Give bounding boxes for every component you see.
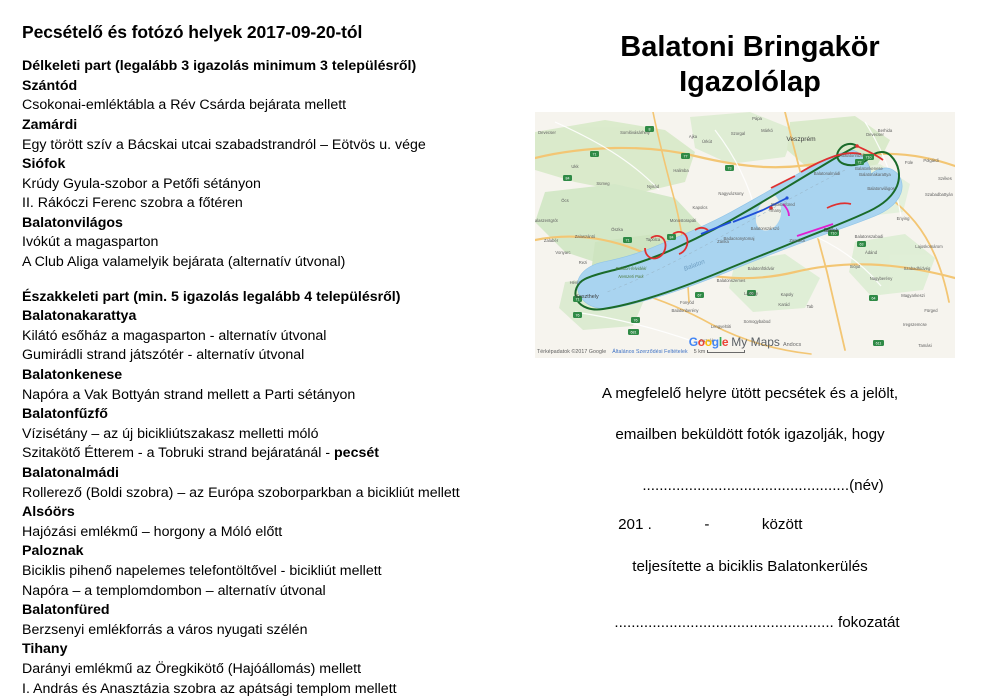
map-label-keszthely: Keszthely [575,294,599,300]
map-label-balatonalmadi: Balatonalmádi [814,171,841,176]
map-label-sumeg: Sümeg [596,181,610,186]
poi-item-with-stamp: Szitakötő Étterem - a Tobruki strand bej… [22,444,492,464]
poi-item: Krúdy Gyula-szobor a Petőfi sétányon [22,175,492,195]
map-label-badacsony: Badacsonytomaj [724,236,755,241]
svg-text:84: 84 [670,236,674,240]
town-name-balatonalmadi: Balatonalmádi [22,464,492,484]
map-label-balatonvilagos: Balatonvilágos [867,186,894,191]
map-label-iregszemcse: Iregszemcse [903,322,927,327]
map-label-devecser: Devecser [866,132,884,137]
map-attribution-bar: Térképadatok ©2017 Google Általános Szer… [535,345,955,358]
grade-dots: ........................................… [614,614,833,631]
map-label-zalaszentgrot: Zalaszentgrót [535,218,559,223]
map-label-kapolcs: Kapolcs [693,205,708,210]
map-label-devecser2: Devecser [538,130,556,135]
map-label-ajka: Ajka [689,134,698,139]
map-label-papa: Pápa [752,116,762,121]
map-label-somogybabod: Somogybabod [743,319,771,324]
poi-item: Darányi emlékmű az Öregkikötő (Hajóállom… [22,660,492,680]
map-label-park2: Nemzeti Park [618,274,644,279]
poi-item: I. András és Anasztázia szobra az apátsá… [22,680,492,699]
certificate-column: Balatoni Bringakör Igazolólap [500,20,1000,101]
svg-text:72: 72 [858,161,862,165]
map-label-balatonakarattya: Balatonakarattya [859,172,891,177]
name-fill-in-line[interactable]: ........................................… [505,477,995,494]
poi-item: Napóra a Vak Bottyán strand mellett a Pa… [22,386,492,406]
town-name-tihany: Tihany [22,640,492,660]
poi-item: A Club Aliga valamelyik bejárata (altern… [22,253,492,273]
poi-item: Csokonai-emléktábla a Rév Csárda bejárat… [22,96,492,116]
map-label-balatonszarszo: Balatonszárszó [751,226,780,231]
poi-item: Hajózási emlékmű – horgony a Móló előtt [22,523,492,543]
svg-text:84: 84 [566,177,570,181]
map-label-monostorapati: Monostorapáti [670,218,697,223]
map-label-zalaszanto: Zalaszántó [575,234,596,239]
certificate-title: Balatoni Bringakör Igazolólap [500,30,1000,101]
town-name-balatonfured: Balatonfüred [22,601,492,621]
poi-item: Egy törött szív a Bácskai utcai szabadst… [22,136,492,156]
map-label-szabadbattyan: Szabadbattyán [925,192,954,197]
map-label-tab: Tab [807,304,814,309]
certificate-text-line2: emailben beküldött fotók igazolják, hogy [505,427,995,444]
svg-text:64: 64 [872,297,876,301]
map-label-balatonkenese: Balatonkenese [855,166,883,171]
between-label: között [762,516,882,533]
map-label-marko: Márkó [761,128,773,133]
page-title: Pecsételő és fotózó helyek 2017-09-20-tó… [22,22,492,42]
achievement-text: teljesítette a biciklis Balatonkerülés [505,559,995,576]
town-name-balatonfuzfo: Balatonfűzfő [22,405,492,425]
map-label-enying: Enying [897,216,910,221]
map-label-karad: Karád [778,302,790,307]
certificate-text-line1: A megfelelő helyre ütött pecsétek és a j… [505,386,995,403]
map-label-urkut: Úrkút [702,139,713,144]
balaton-route-map[interactable]: 71 84 77 73 710 84 71 71 76 76 681 67 65… [535,112,955,358]
poi-item: Berzsenyi emlékforrás a város nyugati sz… [22,621,492,641]
map-label-balatonfuzfo: Balatonfűzfő [841,153,865,158]
town-name-zamardi: Zamárdi [22,116,492,136]
svg-text:77: 77 [684,155,688,159]
map-label-kapoly: Kapoly [781,292,795,297]
map-label-vonyarc: Vonyarc [555,250,570,255]
map-label-ocs: Öcs [561,198,568,203]
grade-label: fokozatát [838,614,900,631]
map-label-lengyeltoti: Lengyeltóti [711,324,731,329]
map-terms-link[interactable]: Általános Szerződési Feltételek [612,349,687,355]
map-scale-label: 5 km [694,349,706,355]
poi-item: Ivókút a magasparton [22,233,492,253]
svg-text:71: 71 [593,153,597,157]
map-label-fule: Füle [905,160,914,165]
stamp-locations-column: Pecsételő és fotózó helyek 2017-09-20-tó… [22,22,492,699]
map-label-tapolca: Tapolca [646,237,661,242]
map-canvas: 71 84 77 73 710 84 71 71 76 76 681 67 65… [535,112,955,358]
poi-item: Gumirádli strand játszótér - alternatív … [22,346,492,366]
map-label-adand: Ádánd [865,250,878,255]
svg-text:73: 73 [728,167,732,171]
map-label-rezi2: Öszka [611,227,624,232]
svg-text:67: 67 [698,294,702,298]
map-label-nagyvazsony: Nagyvázsony [718,191,744,196]
certificate-title-line2: Igazolólap [500,65,1000,100]
map-label-tihany: Tihany [769,208,782,213]
map-label-szekes: Székes [938,176,952,181]
map-label-somlovasarhely: Somlóvásárhely [620,130,651,135]
certificate-spacer [505,463,995,477]
map-label-veszprem: Veszprém [786,136,816,143]
map-label-balatonszemes: Balatonszemes [717,278,746,283]
map-label-balatonszabadi: Balatonszabadi [855,234,884,239]
svg-text:710: 710 [866,156,872,160]
town-name-siofok: Siófok [22,155,492,175]
map-label-polgardi: Polgárdi [923,158,938,163]
svg-text:76: 76 [634,319,638,323]
grade-fill-in-line[interactable]: ........................................… [505,614,995,631]
map-label-zalabar: Zalabér [544,238,559,243]
map-label-rezi: Rezi [579,260,587,265]
map-label-latrany: Látrány [744,291,759,296]
town-name-balatonakarattya: Balatonakarattya [22,307,492,327]
town-name-szantod: Szántód [22,77,492,97]
certificate-spacer-2 [505,600,995,614]
map-label-furged: Fürged [924,308,938,313]
name-label: (név) [849,477,884,494]
map-label-balatonberény: Balatonberény [671,308,699,313]
section-spacer [22,273,492,288]
map-label-lajoskomarom: Lajoskomárom [915,244,943,249]
map-label-balatonfoldvar: Balatonföldvár [748,266,775,271]
svg-text:63: 63 [860,243,864,247]
date-range-dash: - [652,516,762,533]
map-label-ukk: Ukk [571,164,579,169]
poi-item: Rollerező (Boldi szobra) – az Európa szo… [22,484,492,523]
map-label-siojut: Siójut [850,264,861,269]
name-dots: ........................................… [642,477,849,494]
svg-text:71: 71 [626,239,630,243]
poi-item: Napóra – a templomdombon – alternatív út… [22,582,492,602]
map-label-szorgal: Szorgal [731,131,745,136]
town-name-paloznak: Paloznak [22,542,492,562]
map-label-hevíz: Hévíz [570,280,581,285]
poi-item: Biciklis pihenő napelemes telefontöltőve… [22,562,492,582]
map-label-szabadhidveg: Szabadhídvég [904,266,931,271]
map-label-halimba: Halimba [673,168,689,173]
section-heading-northeast: Északkeleti part (min. 5 igazolás legalá… [22,288,492,308]
map-label-magyarkeszi: Magyarkeszi [901,293,925,298]
poi-item: II. Rákóczi Ferenc szobra a főtéren [22,194,492,214]
poi-item: Kilátó esőház a magasparton - alternatív… [22,327,492,347]
certificate-body: A megfelelő helyre ütött pecsétek és a j… [505,386,995,631]
map-label-nyirad: Nyirád [647,184,660,189]
poi-item: Vízisétány – az új bicikliútszakasz mell… [22,425,492,445]
year-prefix: 201 . [618,516,652,533]
map-label-nagybereny: Nagyberény [870,276,893,281]
map-scale-line [707,350,745,353]
certificate-title-line1: Balatoni Bringakör [500,30,1000,65]
map-label-park1: Balaton-felvidéki [616,266,648,271]
svg-text:76: 76 [576,314,580,318]
map-label-fonyod: Fonyód [680,300,695,305]
map-copyright: Térképadatok ©2017 Google [537,349,606,355]
map-label-balatonfured: Balatonfüred [771,202,795,207]
map-label-siofok: Siófok [824,228,839,234]
section-heading-southeast: Délkeleti part (legalább 3 igazolás mini… [22,57,492,77]
map-label-zamardi: Zamárdi [789,238,804,243]
date-range-line[interactable]: 201 . - között [505,516,995,533]
svg-text:681: 681 [631,331,637,335]
map-scale-bar: 5 km [694,349,746,355]
town-name-balatonkenese: Balatonkenese [22,366,492,386]
certificate-page: Pecsételő és fotózó helyek 2017-09-20-tó… [0,0,1000,668]
town-name-balatonvilagos: Balatonvilágos [22,214,492,234]
